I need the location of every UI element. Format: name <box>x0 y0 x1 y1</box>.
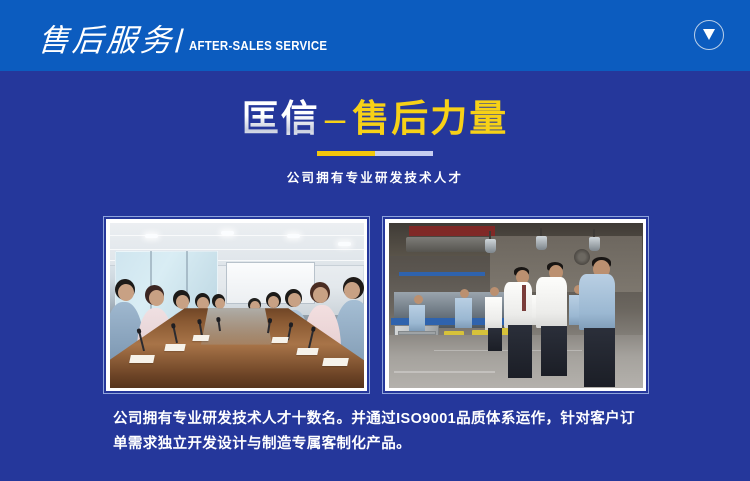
title-dash: – <box>320 98 353 139</box>
header-bar: 售后服务 / AFTER-SALES SERVICE <box>0 0 750 71</box>
factory-floor-photo-frame[interactable] <box>382 216 649 394</box>
photo-mat <box>385 219 646 391</box>
title-block: 匡信–售后力量 公司拥有专业研发技术人才 <box>0 96 750 186</box>
page-subtitle: 公司拥有专业研发技术人才 <box>0 167 750 186</box>
meeting-room-photo <box>110 223 364 388</box>
header-chinese-title: 售后服务 <box>37 25 175 60</box>
photo-row <box>103 216 649 394</box>
page-title: 匡信–售后力量 <box>0 96 750 142</box>
after-sales-service-banner: 售后服务 / AFTER-SALES SERVICE 匡信–售后力量 公司拥有专… <box>0 0 750 481</box>
description-paragraph: 公司拥有专业研发技术人才十数名。并通过ISO9001品质体系运作，针对客户订单需… <box>113 407 643 457</box>
title-divider <box>317 151 433 156</box>
factory-floor-photo <box>389 223 643 388</box>
photo-mat <box>106 219 367 391</box>
title-brand: 匡信 <box>242 98 320 139</box>
header-title-group: 售后服务 / AFTER-SALES SERVICE <box>38 12 346 60</box>
table-reflection <box>201 308 272 344</box>
factory-shutter <box>406 237 497 252</box>
divider-segment-left <box>317 151 375 156</box>
meeting-room-photo-frame[interactable] <box>103 216 370 394</box>
factory-red-banner <box>409 226 495 236</box>
header-english-title: AFTER-SALES SERVICE <box>189 38 327 60</box>
circle-chevron-down-icon[interactable] <box>694 20 724 50</box>
header-slash-divider: / <box>174 25 186 60</box>
chevron-down-glyph <box>703 29 715 40</box>
title-accent: 售后力量 <box>352 98 508 139</box>
divider-segment-right <box>375 151 433 156</box>
